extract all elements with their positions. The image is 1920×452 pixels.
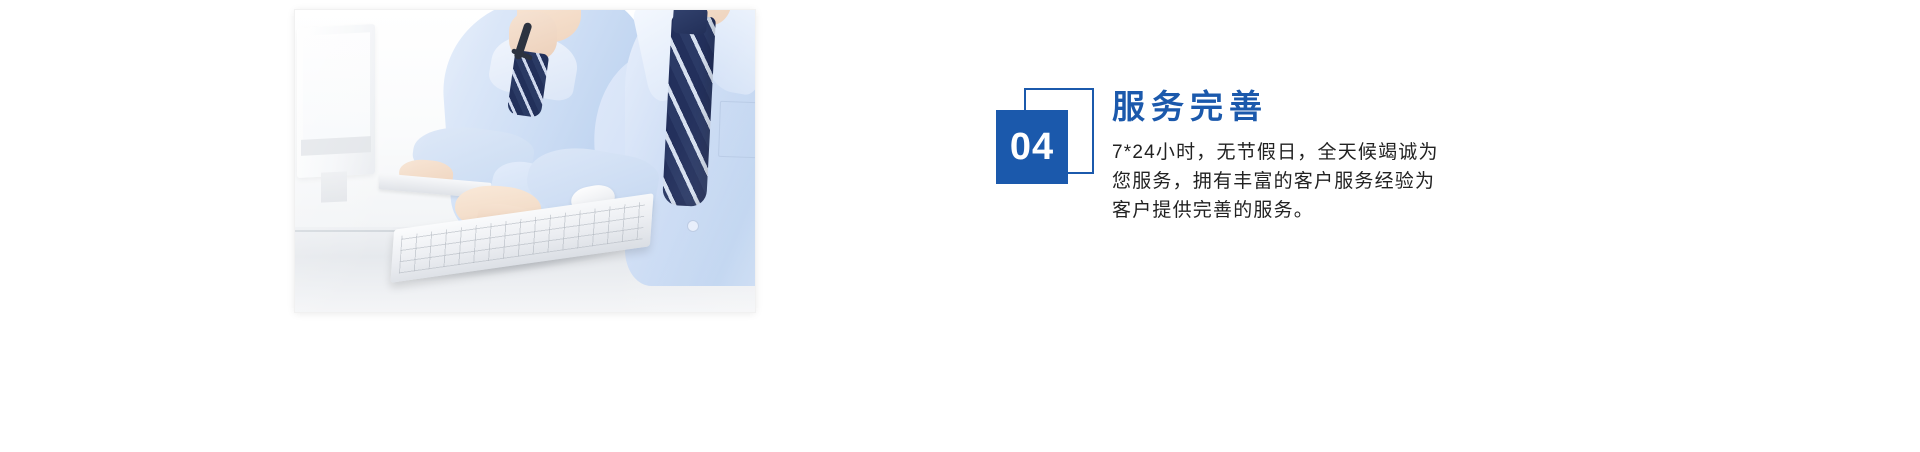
monitor-stripe [301,136,371,156]
description-line-3: 客户提供完善的服务。 [1112,197,1439,226]
photo-canvas [295,10,755,312]
monitor-screen [303,32,370,140]
shirt-button [687,220,699,232]
front-agent-tie-knot [672,10,708,35]
description-line-2: 您服务，拥有丰富的客户服务经验为 [1112,168,1439,197]
service-photo [295,10,755,312]
promo-banner: 04 服务完善 7*24小时，无节假日，全天候竭诚为 您服务，拥有丰富的客户服务… [0,0,1920,452]
front-agent-pocket [718,101,755,159]
section-title: 服务完善 [1112,88,1439,127]
section-description: 7*24小时，无节假日，全天候竭诚为 您服务，拥有丰富的客户服务经验为 客户提供… [1112,139,1439,226]
badge-number: 04 [1010,128,1054,166]
service-block: 04 服务完善 7*24小时，无节假日，全天候竭诚为 您服务，拥有丰富的客户服务… [996,88,1439,226]
monitor-icon [297,24,375,178]
service-text-column: 服务完善 7*24小时，无节假日，全天候竭诚为 您服务，拥有丰富的客户服务经验为… [1112,88,1439,226]
section-number-badge: 04 [996,88,1090,192]
badge-filled-square: 04 [996,110,1068,184]
monitor-stand [321,171,347,202]
description-line-1: 7*24小时，无节假日，全天候竭诚为 [1112,139,1439,168]
